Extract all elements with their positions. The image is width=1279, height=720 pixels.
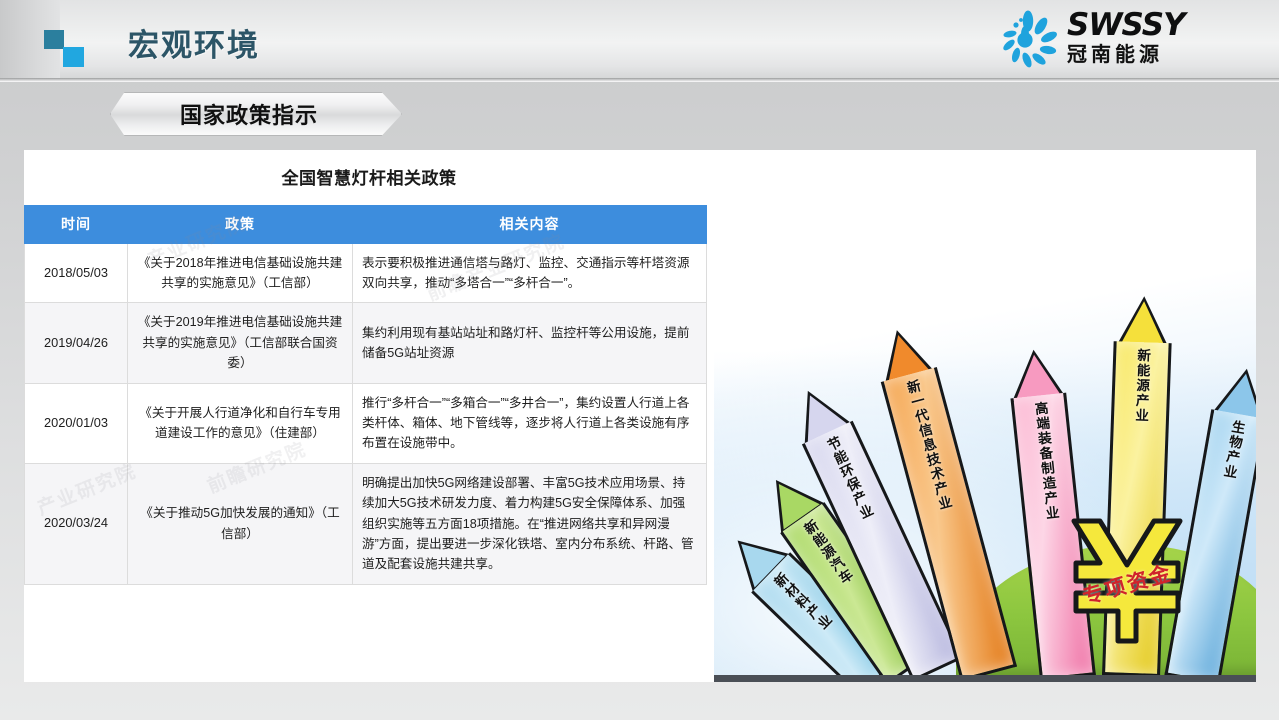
logo-cn-text: 冠南能源 [1067, 45, 1185, 65]
square-light-icon [63, 47, 84, 67]
cell-policy: 《关于2019年推进电信基础设施共建共享的实施意见》（工信部联合国资委） [128, 303, 353, 383]
water-droplet-petal-icon [995, 10, 1061, 70]
arrow-label: 新能源产业 [1130, 348, 1153, 424]
cell-content: 推行“多杆合一”“多箱合一”“多井合一”，集约设置人行道上各类杆体、箱体、地下管… [353, 383, 707, 463]
content-panel: 全国智慧灯杆相关政策 产业研究院 前瞻产业研究院 前瞻研究院 产业研究院 时间 … [24, 150, 1256, 682]
policy-table: 时间 政策 相关内容 2018/05/03 《关于2018年推进电信基础设施共建… [24, 205, 707, 585]
cell-date: 2019/04/26 [25, 303, 128, 383]
logo-wordmark: SWSSY 冠南能源 [1067, 10, 1185, 65]
cell-date: 2018/05/03 [25, 243, 128, 303]
table-title: 全国智慧灯杆相关政策 [24, 150, 714, 189]
column-header-content: 相关内容 [353, 206, 707, 244]
table-row: 2020/03/24 《关于推动5G加快发展的通知》（工信部） 明确提出加快5G… [25, 463, 707, 584]
table-row: 2019/04/26 《关于2019年推进电信基础设施共建共享的实施意见》（工信… [25, 303, 707, 383]
page-title: 宏观环境 [128, 20, 260, 65]
table-row: 2018/05/03 《关于2018年推进电信基础设施共建共享的实施意见》（工信… [25, 243, 707, 303]
square-dark-icon [44, 30, 64, 49]
logo-en-text: SWSSY [1067, 10, 1185, 41]
section-banner[interactable]: 国家政策指示 [110, 92, 402, 136]
arrow-head-fill [1012, 352, 1060, 398]
industry-arrows-illustration: 新材料产业 新能源汽车 节能环保产业 新一代信息技术产业 [714, 150, 1256, 682]
cell-content: 明确提出加快5G网络建设部署、丰富5G技术应用场景、持续加大5G技术研发力度、着… [353, 463, 707, 584]
section-banner-label: 国家政策指示 [110, 92, 402, 136]
slide-header: 宏观环境 SWSSY 冠南能源 [0, 0, 1279, 78]
table-header-row: 时间 政策 相关内容 [25, 206, 707, 244]
policy-table-area: 全国智慧灯杆相关政策 产业研究院 前瞻产业研究院 前瞻研究院 产业研究院 时间 … [24, 150, 714, 660]
cell-date: 2020/03/24 [25, 463, 128, 584]
header-divider [0, 78, 1279, 82]
company-logo: SWSSY 冠南能源 [995, 6, 1261, 72]
table-row: 2020/01/03 《关于开展人行道净化和自行车专用道建设工作的意见》（住建部… [25, 383, 707, 463]
cell-policy: 《关于开展人行道净化和自行车专用道建设工作的意见》（住建部） [128, 383, 353, 463]
cell-policy: 《关于推动5G加快发展的通知》（工信部） [128, 463, 353, 584]
cell-content: 集约利用现有基站站址和路灯杆、监控杆等公用设施，提前储备5G站址资源 [353, 303, 707, 383]
special-funds-yen-badge: 专项资金 [1062, 513, 1192, 645]
cell-date: 2020/01/03 [25, 383, 128, 463]
cell-content: 表示要积极推进通信塔与路灯、监控、交通指示等杆塔资源双向共享，推动“多塔合一”“… [353, 243, 707, 303]
arrow-head-fill [1121, 300, 1167, 346]
cell-policy: 《关于2018年推进电信基础设施共建共享的实施意见》（工信部） [128, 243, 353, 303]
column-header-time: 时间 [25, 206, 128, 244]
column-header-policy: 政策 [128, 206, 353, 244]
two-squares-icon [44, 30, 86, 64]
